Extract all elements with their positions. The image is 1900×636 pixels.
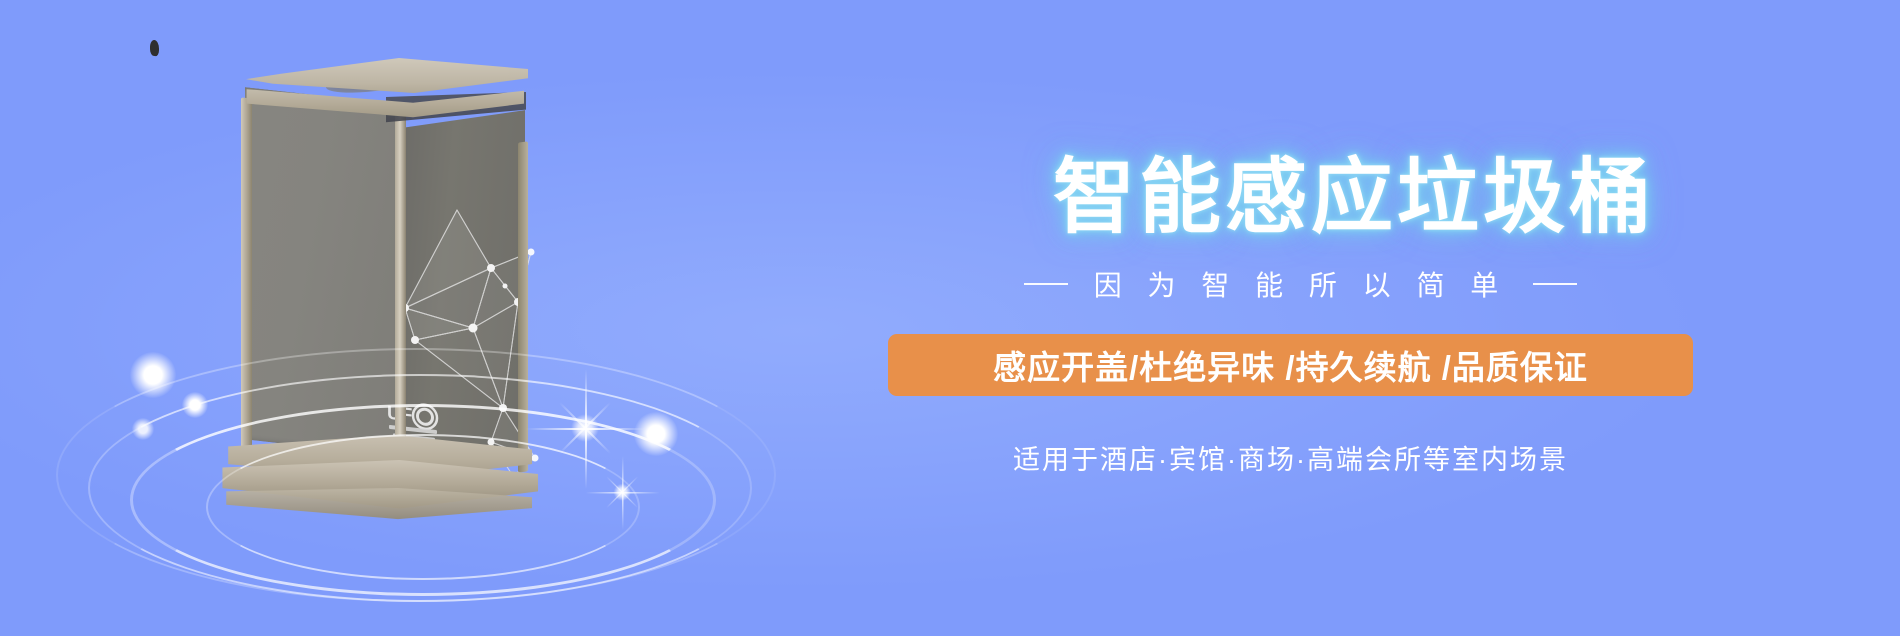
bin-base-lock-icon: [150, 39, 159, 56]
feature-highlight-text: 感应开盖/杜绝异味 /持久续航 /品质保证: [993, 341, 1588, 389]
subtitle-dash-right: [1533, 283, 1577, 285]
subtitle-dash-left: [1024, 283, 1068, 285]
glow-dot-2: [182, 392, 208, 418]
product-promo-banner: UF: [0, 0, 1900, 636]
promo-headline: 智能感应垃圾桶: [1053, 130, 1655, 249]
promo-text-block: 智能感应垃圾桶 因 为 智 能 所 以 简 单 感应开盖/杜绝异味 /持久续航 …: [888, 0, 1748, 636]
glow-dot-4: [634, 412, 678, 456]
sparkle-star-1: [585, 428, 586, 429]
usage-scenarios-text: 适用于酒店·宾馆·商场·高端会所等室内场景: [888, 438, 1693, 477]
glow-dot-1: [130, 352, 176, 398]
sparkle-star-2: [622, 492, 623, 493]
subtitle-text: 因 为 智 能 所 以 简 单: [1094, 264, 1507, 304]
feature-highlight-banner: 感应开盖/杜绝异味 /持久续航 /品质保证: [888, 334, 1693, 396]
light-ring-3: [206, 434, 640, 580]
promo-subtitle: 因 为 智 能 所 以 简 单: [888, 264, 1713, 304]
glow-dot-3: [132, 418, 154, 440]
light-rings-effect: [30, 330, 770, 620]
